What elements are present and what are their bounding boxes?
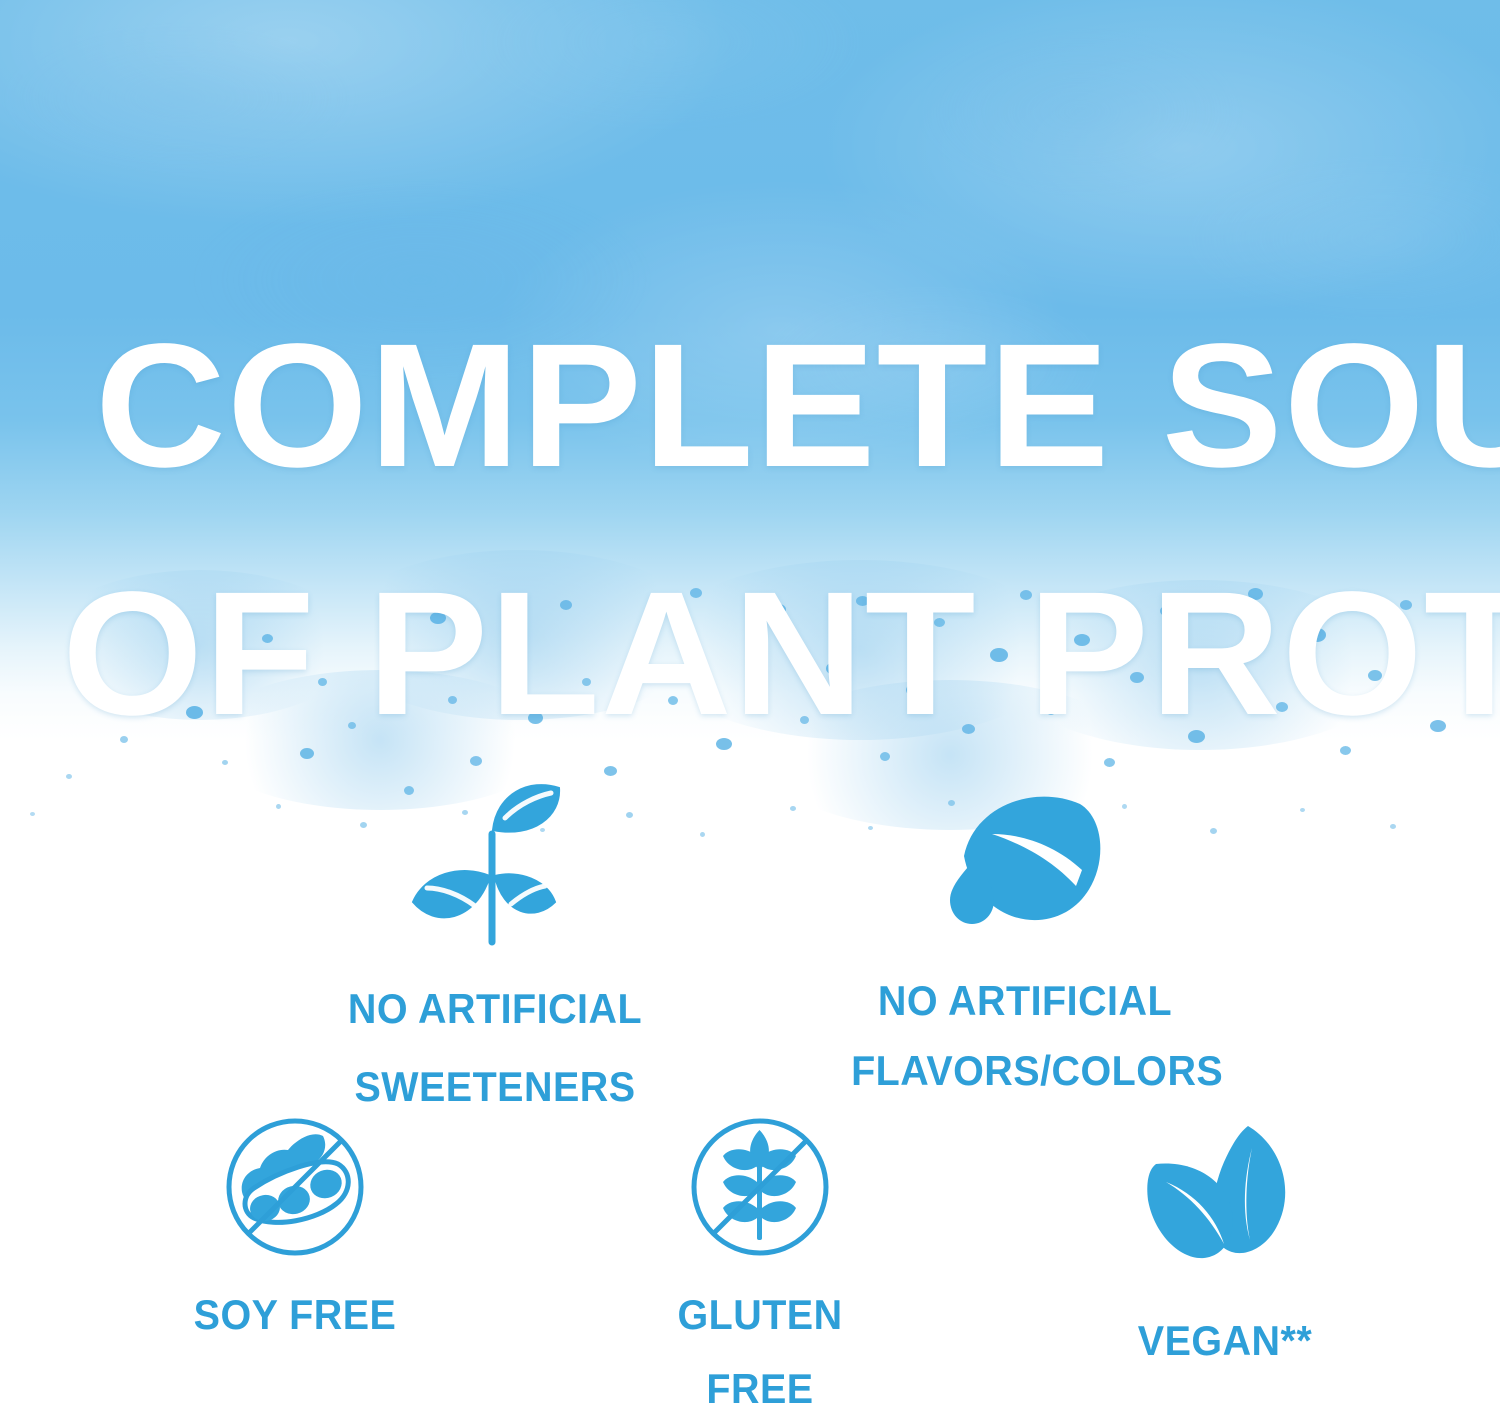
no-soy-icon <box>130 1112 460 1267</box>
benefit-caption-line-1: VEGAN** <box>1070 1315 1380 1367</box>
two-leaves-icon <box>1060 1120 1390 1285</box>
benefit-vegan: VEGAN** <box>1060 1120 1390 1367</box>
benefit-caption-line-1: GLUTEN <box>605 1289 915 1341</box>
page-title: COMPLETE SOURCE OF PLANT PROTEIN. <box>62 304 1494 756</box>
benefit-no-artificial-sweeteners: NO ARTIFICIAL SWEETENERS <box>330 772 660 1113</box>
headline-line-2: OF PLANT PROTEIN. <box>62 552 1494 756</box>
benefit-caption-line-2: SWEETENERS <box>340 1061 650 1113</box>
benefit-badge-grid: NO ARTIFICIAL SWEETENERS NO ARTIFICIAL F… <box>0 772 1500 1412</box>
leaf-droplet-icon <box>840 782 1210 957</box>
benefit-gluten-free: GLUTEN FREE <box>595 1112 925 1415</box>
no-wheat-icon <box>595 1112 925 1267</box>
benefit-no-artificial-flavors-colors: NO ARTIFICIAL FLAVORS/COLORS <box>840 782 1210 1097</box>
benefit-soy-free: SOY FREE <box>130 1112 460 1341</box>
benefit-caption-line-1: NO ARTIFICIAL <box>340 983 650 1035</box>
sprout-icon <box>330 772 660 957</box>
benefit-caption-line-1: SOY FREE <box>140 1289 450 1341</box>
benefit-caption-line-1: NO ARTIFICIAL <box>851 975 1199 1027</box>
headline-line-1: COMPLETE SOURCE <box>95 304 1494 508</box>
benefit-caption-line-2: FREE <box>605 1363 915 1415</box>
product-benefits-poster: COMPLETE SOURCE OF PLANT PROTEIN. <box>0 0 1500 1417</box>
benefit-caption-line-2: FLAVORS/COLORS <box>851 1045 1199 1097</box>
